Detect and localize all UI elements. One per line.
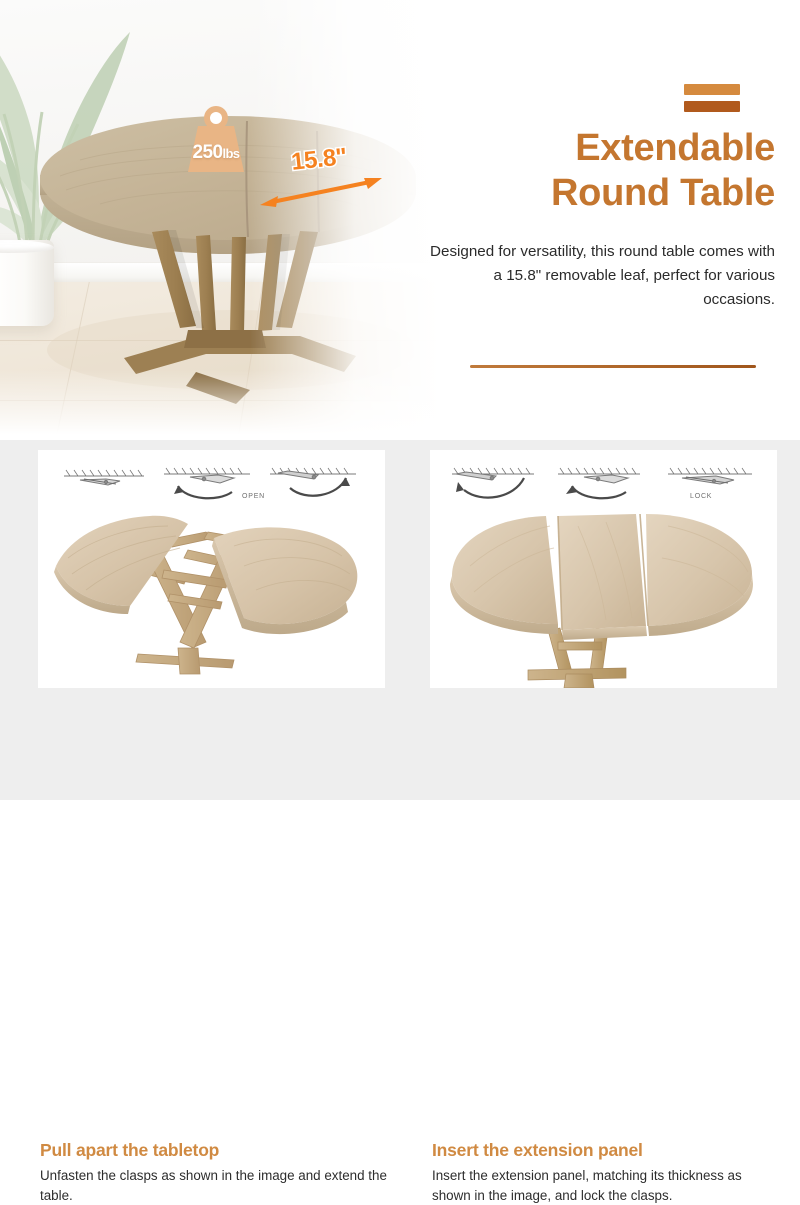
product-infographic: 250lbs 15.8" Extendable Round Table Desi… <box>0 0 800 800</box>
brand-bar-top <box>684 84 740 95</box>
step-1-photo <box>38 502 385 688</box>
clasp-diagram: LOCK <box>654 458 770 506</box>
step-1-caption: Pull apart the tabletop Unfasten the cla… <box>40 1140 390 1205</box>
double-arrow-icon <box>258 172 388 208</box>
clasp-diagram <box>546 458 662 506</box>
step-1-body: Unfasten the clasps as shown in the imag… <box>40 1166 390 1205</box>
step-1-title: Pull apart the tabletop <box>40 1140 390 1161</box>
weight-capacity-badge: 250lbs <box>182 98 250 176</box>
page-title: Extendable Round Table <box>430 126 775 216</box>
clasp-diagram-row-2: LOCK <box>430 458 777 506</box>
clasp-diagram: OPEN <box>154 458 270 506</box>
clasp-diagram <box>438 458 554 506</box>
step-2-body: Insert the extension panel, matching its… <box>432 1166 782 1205</box>
headline-line-2: Round Table <box>430 171 775 216</box>
clasp-diagram-row-1: OPEN <box>38 458 385 506</box>
brand-mark <box>684 84 740 112</box>
step-2-title: Insert the extension panel <box>432 1140 782 1161</box>
instruction-section: OPEN <box>0 440 800 800</box>
clasp-diagram <box>262 458 378 506</box>
clasp-diagram <box>46 458 162 506</box>
hero-description: Designed for versatility, this round tab… <box>420 240 775 312</box>
step-card-1: OPEN <box>38 450 385 688</box>
weight-unit: lbs <box>222 146 239 161</box>
photo-bottom-fade <box>0 370 440 440</box>
hero-section: 250lbs 15.8" Extendable Round Table Desi… <box>0 0 800 440</box>
hero-room-photo <box>0 0 440 440</box>
weight-value: 250 <box>193 142 223 163</box>
brand-bar-bottom <box>684 101 740 112</box>
step-2-photo <box>430 502 777 688</box>
step-card-2: LOCK <box>430 450 777 688</box>
step-2-caption: Insert the extension panel Insert the ex… <box>432 1140 782 1205</box>
leaf-dimension-badge: 15.8" <box>258 146 388 208</box>
weight-label: 250lbs <box>182 142 250 164</box>
headline-line-1: Extendable <box>575 127 775 169</box>
weight-icon <box>182 98 250 176</box>
clasp-tag: LOCK <box>690 493 712 500</box>
divider <box>470 365 756 368</box>
